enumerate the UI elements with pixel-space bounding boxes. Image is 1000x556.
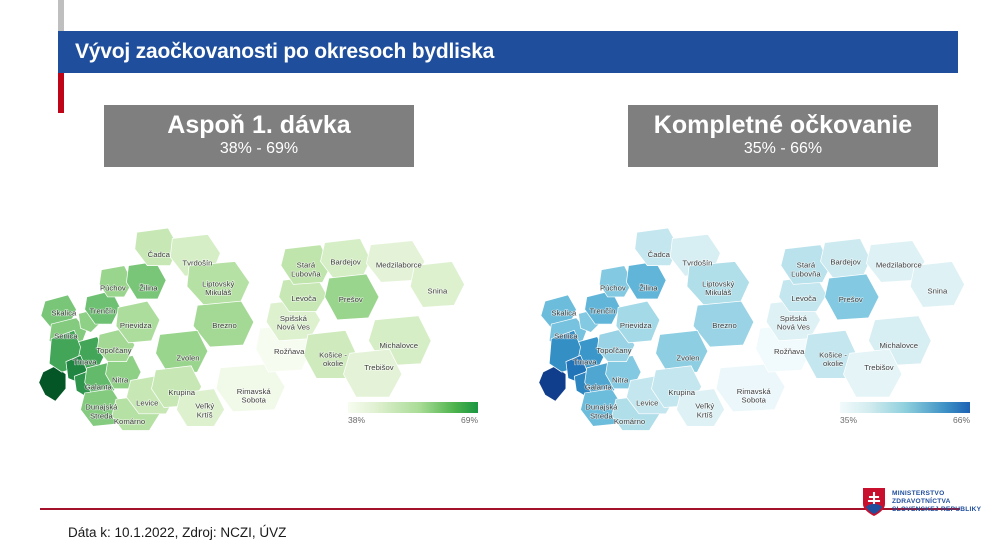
logo-line-2: ZDRAVOTNÍCTVA	[892, 498, 981, 506]
legend-gradient-green	[348, 402, 478, 413]
district-label: Púchov	[100, 284, 126, 293]
legend-min-dose1: 38%	[348, 415, 365, 425]
district-label: Skalica	[51, 309, 77, 318]
district-label: Topoľčany	[96, 346, 131, 355]
slide-title-bar: Vývoj zaočkovanosti po okresoch bydliska	[58, 31, 958, 73]
district-label: Rožňava	[774, 347, 805, 356]
district-label: VeľkýKrtíš	[695, 402, 714, 420]
district-label: Rožňava	[274, 347, 305, 356]
district-label: Senica	[54, 332, 78, 341]
logo-line-1: MINISTERSTVO	[892, 490, 981, 498]
district-label: Medzilaborce	[876, 261, 922, 270]
district-label: Prievidza	[620, 321, 652, 330]
district-label: Topoľčany	[596, 346, 631, 355]
panel-header-right: Kompletné očkovanie 35% - 66%	[628, 105, 938, 167]
district-label: Galanta	[585, 383, 613, 392]
logo-line-3: SLOVENSKEJ REPUBLIKY	[892, 506, 981, 514]
footer-source-note: Dáta k: 10.1.2022, Zdroj: NCZI, ÚVZ	[68, 525, 286, 540]
legend-max-full: 66%	[953, 415, 970, 425]
district-label: Nitra	[112, 375, 129, 384]
legend-labels-full: 35% 66%	[840, 415, 970, 425]
district-label: VeľkýKrtíš	[195, 402, 214, 420]
district-label: Brezno	[212, 321, 236, 330]
district-label: Trebišov	[364, 363, 393, 372]
district--ilina[interactable]	[126, 261, 166, 299]
district-label: Krupina	[168, 388, 195, 397]
legend-gradient-blue	[840, 402, 970, 413]
district-label: SpišskáNová Ves	[777, 314, 810, 332]
district-label: Nitra	[612, 375, 629, 384]
district-label: Levoča	[791, 294, 817, 303]
district-label: Komárno	[114, 417, 145, 426]
district-label: Trenčín	[89, 307, 115, 316]
district-label: Bardejov	[330, 258, 361, 267]
district-trebi-ov[interactable]	[843, 349, 901, 397]
district-label: Čadca	[648, 250, 671, 259]
panel-header-left: Aspoň 1. dávka 38% - 69%	[104, 105, 414, 167]
district-label: Levice	[636, 398, 658, 407]
district-label: LiptovskýMikuláš	[702, 279, 734, 297]
legend-max-dose1: 69%	[461, 415, 478, 425]
district-label: Zvolen	[676, 354, 699, 363]
district-label: Prešov	[839, 295, 863, 304]
district-label: Tvrdošín	[182, 259, 212, 268]
ministry-logo: MINISTERSTVO ZDRAVOTNÍCTVA SLOVENSKEJ RE…	[862, 487, 981, 517]
district-label: Brezno	[712, 321, 736, 330]
ministry-logo-text: MINISTERSTVO ZDRAVOTNÍCTVA SLOVENSKEJ RE…	[892, 490, 981, 513]
legend-full: 35% 66%	[840, 402, 970, 425]
district-label: Prievidza	[120, 321, 152, 330]
district-label: Trenčín	[589, 307, 615, 316]
district-label: Michalovce	[879, 341, 918, 350]
district-label: Čadca	[148, 250, 171, 259]
district-label: LiptovskýMikuláš	[202, 279, 234, 297]
district-label: Snina	[928, 287, 948, 296]
district-label: Krupina	[668, 388, 695, 397]
accent-bar-gray	[58, 0, 64, 33]
slovak-coat-of-arms-icon	[862, 487, 886, 517]
district-label: Trnava	[73, 358, 97, 367]
panel-range-left: 38% - 69%	[220, 139, 298, 160]
district-label: Galanta	[85, 383, 113, 392]
district-label: Bardejov	[830, 258, 861, 267]
district-label: Púchov	[600, 284, 626, 293]
district-label: Žilina	[639, 284, 658, 293]
footer-divider	[40, 508, 960, 510]
accent-bar-red	[58, 73, 64, 113]
panel-title-left: Aspoň 1. dávka	[167, 112, 350, 138]
legend-labels-dose1: 38% 69%	[348, 415, 478, 425]
district-label: Levice	[136, 398, 158, 407]
district-label: Trebišov	[864, 363, 893, 372]
district-label: Žilina	[139, 284, 158, 293]
legend-min-full: 35%	[840, 415, 857, 425]
district-label: Michalovce	[379, 341, 418, 350]
district-label: Senica	[554, 332, 578, 341]
district--ilina[interactable]	[626, 261, 666, 299]
district-trebi-ov[interactable]	[343, 349, 401, 397]
slide-root: Vývoj zaočkovanosti po okresoch bydliska…	[0, 0, 1000, 556]
legend-dose1: 38% 69%	[348, 402, 478, 425]
page-title: Vývoj zaočkovanosti po okresoch bydliska	[58, 40, 494, 64]
district-label: Skalica	[551, 309, 577, 318]
district-label: Tvrdošín	[682, 259, 712, 268]
district-label: Komárno	[614, 417, 645, 426]
district-label: Snina	[428, 287, 448, 296]
district-label: Zvolen	[176, 354, 199, 363]
district-label: Trnava	[573, 358, 597, 367]
district-label: SpišskáNová Ves	[277, 314, 310, 332]
panel-title-right: Kompletné očkovanie	[654, 112, 912, 138]
district-label: Levoča	[291, 294, 317, 303]
district-label: Prešov	[339, 295, 363, 304]
panel-range-right: 35% - 66%	[744, 139, 822, 160]
district-label: Medzilaborce	[376, 261, 422, 270]
